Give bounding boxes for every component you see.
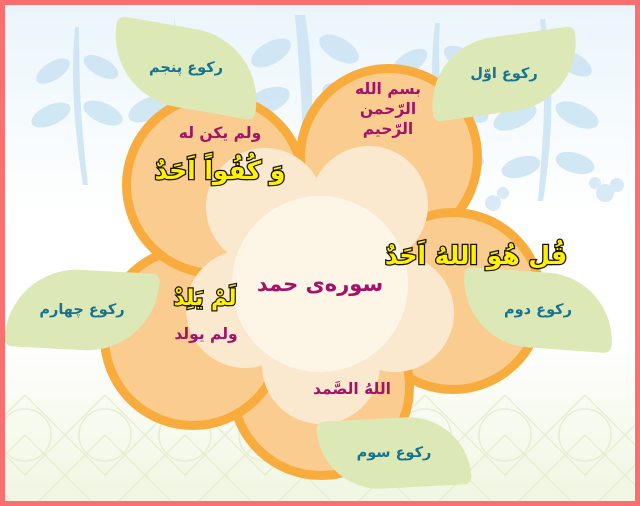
flower-diagram: سوره‌ی حمد بسم الله الرّحمن الرّحیم ولم … [0, 0, 640, 506]
verse-allahu-samad: اللهُ الصَّمد [282, 380, 422, 400]
leaf-label-ruku-5: رکوع پنجم [110, 28, 262, 108]
leaf-ruku-5[interactable]: رکوع پنجم [104, 15, 268, 120]
verse-basmala: بسم الله الرّحمن الرّحیم [318, 80, 458, 139]
verse-basmala-line-1: بسم الله [318, 80, 458, 100]
verse-walam-yulad: ولم یولد [136, 325, 276, 345]
leaf-label-ruku-3: رکوع سوم [318, 418, 470, 488]
leaf-label-ruku-2: رکوع دوم [462, 272, 614, 348]
verse-lam-yalid: لَمْ یَلِدْ [130, 285, 280, 313]
poster-canvas: سوره‌ی حمد بسم الله الرّحمن الرّحیم ولم … [0, 0, 640, 506]
verse-basmala-line-2: الرّحمن [318, 100, 458, 120]
leaf-ruku-2[interactable]: رکوع دوم [460, 267, 617, 353]
verse-basmala-line-3: الرّحیم [318, 120, 458, 140]
verse-wa-kufuwan-ahad: وَ کُفُواً اَحَدٌ [120, 155, 320, 187]
page-title: سوره‌ی حمد [232, 196, 408, 372]
verse-walam-yakun: ولم یکن له [140, 124, 300, 144]
leaf-ruku-3[interactable]: رکوع سوم [316, 414, 471, 492]
verse-qul-huwa-allahu-ahad: قُل هُوَ اللهُ اَحَدٌ [368, 240, 584, 272]
